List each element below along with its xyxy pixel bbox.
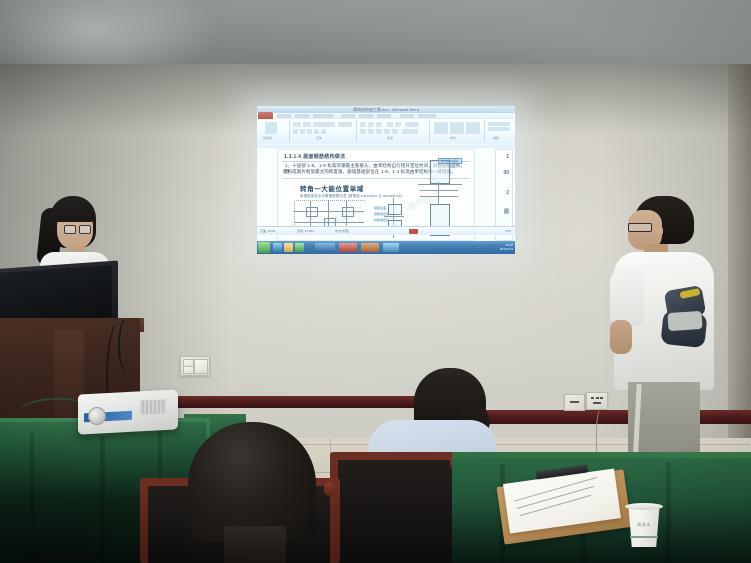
diagram-annotation-1: 钢筋表面 [374, 206, 386, 210]
attendee-ear [656, 226, 663, 236]
ribbon-group-label-2: 字体 [316, 136, 322, 140]
status-page-indicator: 页面: 21/48 [260, 227, 275, 235]
projector-lens [88, 407, 106, 425]
attendee-forearm [610, 320, 632, 354]
glasses-icon [628, 223, 652, 232]
ribbon-toolbar[interactable]: 剪贴板 字体 [257, 119, 515, 145]
taskbar-item-pdf-reader[interactable] [339, 243, 357, 252]
chair-middle[interactable] [330, 452, 466, 563]
side-pane-text-1: 1 [506, 154, 509, 160]
ribbon-group-label-1: 剪贴板 [263, 136, 272, 140]
side-pane-text-2: 00 [503, 170, 509, 176]
document-stamp: 建筑结构图集 [438, 158, 462, 164]
status-accent-marker [409, 229, 418, 234]
taskbar-item-cad-drawing[interactable] [361, 243, 379, 252]
status-bar[interactable]: 页面: 21/48 字数: 12,480 中文(中国) 75% [257, 226, 515, 235]
glasses-icon [64, 225, 90, 232]
ribbon-group-label-4: 样式 [450, 136, 456, 140]
seated-front-neck [224, 526, 286, 563]
status-zoom-level[interactable]: 75% [505, 227, 511, 235]
photo-scene: 建筑结构施工图.doc - Microsoft Word 剪贴板 [0, 0, 751, 563]
podium-cable-2 [118, 318, 136, 372]
seated-attendee-front [178, 422, 330, 563]
system-tray-clock[interactable]: 15:26 2014/7/11 [500, 243, 513, 251]
projected-screen[interactable]: 建筑结构施工图.doc - Microsoft Word 剪贴板 [257, 106, 515, 254]
tshirt-graphic-print [658, 284, 712, 356]
clock-date: 2014/7/11 [500, 247, 513, 251]
door-frame-right [728, 64, 751, 466]
document-section-title: 转角一大能位置单域 [300, 183, 364, 193]
start-button[interactable] [258, 242, 270, 253]
side-pane-text-3: 2 [506, 190, 509, 196]
window-titlebar: 建筑结构施工图.doc - Microsoft Word [257, 106, 515, 113]
side-pane-text-4: 层 [504, 208, 509, 215]
taskbar-item-internet-explorer[interactable] [273, 243, 282, 252]
attendee-sleeve [610, 268, 644, 326]
seated-front-hair [188, 422, 316, 542]
paper-cup-band [630, 536, 658, 538]
status-language: 中文(中国) [335, 227, 349, 235]
ribbon-group-label-5: 编辑 [493, 136, 499, 140]
document-heading: 1.3.1.4 屋面钢筋结构做法 [284, 153, 345, 160]
laptop-screen [0, 265, 112, 325]
standing-attendee-right [606, 196, 721, 488]
power-socket-left[interactable] [564, 394, 585, 411]
taskbar-item-folder-explorer[interactable] [284, 243, 293, 252]
presenter-fringe [53, 206, 95, 222]
ribbon-group-label-3: 段落 [387, 136, 393, 140]
diagram-annotation-2: 钢筋搭接区 [374, 212, 389, 216]
windows-taskbar[interactable]: 15:26 2014/7/11 [257, 241, 515, 254]
projector-vent [140, 399, 166, 414]
paper-cup-rim [625, 503, 663, 510]
diagram-annotation-3: 柱帽加密区 [374, 218, 389, 222]
window-controls[interactable] [494, 107, 514, 112]
document-ruler [257, 144, 515, 148]
light-switch-panel[interactable] [180, 356, 210, 376]
window-title: 建筑结构施工图.doc - Microsoft Word [353, 106, 419, 113]
paper-cup-print: 纯净水 [632, 522, 656, 528]
taskbar-item-media-player[interactable] [295, 243, 304, 252]
taskbar-item-word-document[interactable] [315, 243, 335, 252]
taskbar-item-chat-app[interactable] [383, 243, 399, 252]
status-word-count: 字数: 12,480 [297, 227, 314, 235]
